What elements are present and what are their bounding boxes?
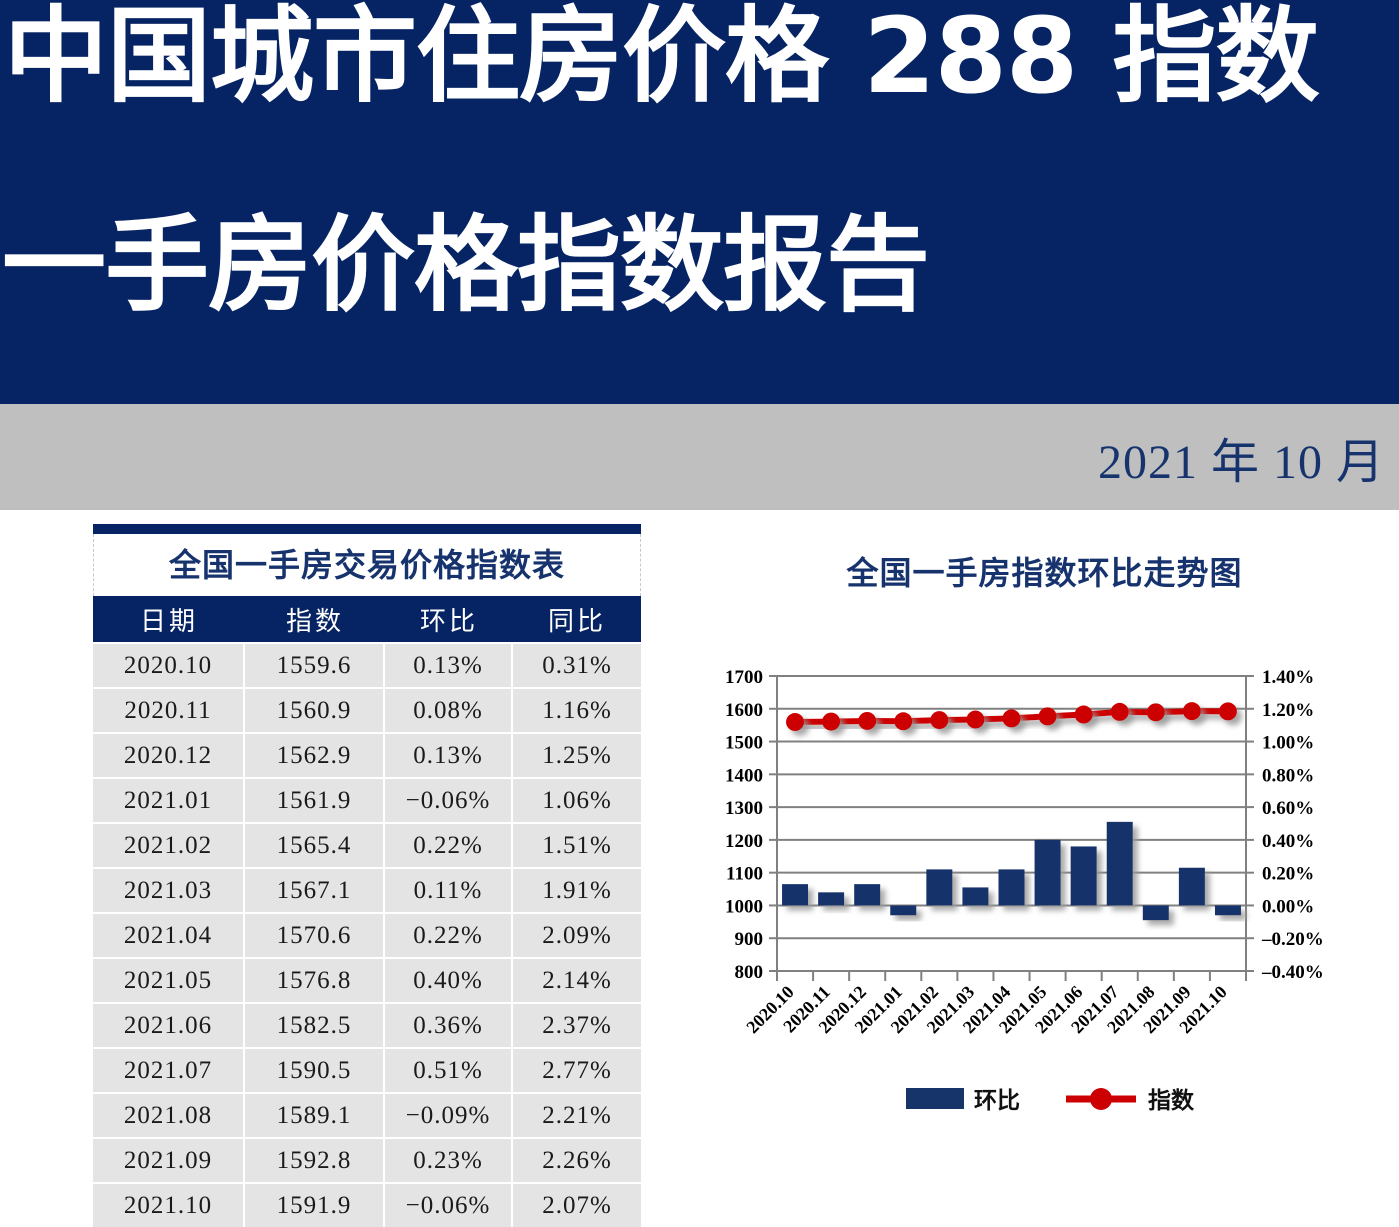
column-header-index: 指数 — [245, 596, 385, 642]
line-point-index — [1111, 703, 1129, 721]
cell-mom: 0.13% — [385, 642, 513, 687]
cell-mom: 0.13% — [385, 732, 513, 777]
cell-index: 1591.9 — [245, 1182, 385, 1227]
line-point-index — [966, 711, 984, 729]
table-body: 2020.101559.60.13%0.31%2020.111560.90.08… — [93, 642, 641, 1227]
line-point-index — [858, 712, 876, 730]
left-axis-label: 1700 — [725, 667, 763, 688]
cell-yoy: 2.14% — [513, 957, 641, 1002]
cell-date: 2021.02 — [93, 822, 245, 867]
line-point-index — [1219, 702, 1237, 720]
right-axis-label: –0.40% — [1261, 962, 1324, 983]
right-axis-label: 1.00% — [1262, 733, 1314, 754]
table-row: 2021.021565.40.22%1.51% — [93, 822, 641, 867]
right-axis-label: 0.00% — [1262, 896, 1314, 917]
cell-yoy: 0.31% — [513, 642, 641, 687]
legend-label-mom: 环比 — [974, 1088, 1020, 1114]
line-point-index — [1003, 709, 1021, 727]
date-bar: 2021 年 10 月 — [0, 404, 1399, 510]
bar-mom — [962, 887, 988, 905]
left-axis-label: 1500 — [725, 733, 763, 754]
table-row: 2020.111560.90.08%1.16% — [93, 687, 641, 732]
cell-yoy: 1.25% — [513, 732, 641, 777]
cell-index: 1560.9 — [245, 687, 385, 732]
cell-date: 2021.06 — [93, 1002, 245, 1047]
line-point-index — [1075, 706, 1093, 724]
line-point-index — [822, 713, 840, 731]
cell-index: 1570.6 — [245, 912, 385, 957]
line-point-index — [1039, 707, 1057, 725]
cell-index: 1567.1 — [245, 867, 385, 912]
cell-date: 2021.05 — [93, 957, 245, 1002]
cell-index: 1592.8 — [245, 1137, 385, 1182]
table-row: 2021.071590.50.51%2.77% — [93, 1047, 641, 1092]
cell-index: 1590.5 — [245, 1047, 385, 1092]
cell-mom: −0.06% — [385, 777, 513, 822]
cell-yoy: 1.91% — [513, 867, 641, 912]
cell-yoy: 2.77% — [513, 1047, 641, 1092]
bar-mom — [818, 892, 844, 905]
cell-date: 2021.10 — [93, 1182, 245, 1227]
cell-mom: 0.51% — [385, 1047, 513, 1092]
cell-yoy: 2.37% — [513, 1002, 641, 1047]
bar-mom — [1071, 846, 1097, 905]
cell-yoy: 2.09% — [513, 912, 641, 957]
cell-mom: −0.09% — [385, 1092, 513, 1137]
left-axis-label: 1000 — [725, 896, 763, 917]
table-row: 2021.011561.9−0.06%1.06% — [93, 777, 641, 822]
bar-mom — [1215, 905, 1241, 915]
cell-date: 2021.09 — [93, 1137, 245, 1182]
bar-mom — [1179, 868, 1205, 906]
title-banner: 中国城市住房价格 288 指数 一手房价格指数报告 — [0, 0, 1399, 404]
bar-mom — [1035, 840, 1061, 906]
line-point-index — [930, 711, 948, 729]
left-axis-label: 1200 — [725, 831, 763, 852]
table-row: 2021.041570.60.22%2.09% — [93, 912, 641, 957]
right-axis-label: –0.20% — [1261, 929, 1324, 950]
cell-yoy: 2.26% — [513, 1137, 641, 1182]
cell-mom: 0.23% — [385, 1137, 513, 1182]
trend-chart-panel: 全国一手房指数环比走势图 800–0.40%900–0.20%10000.00%… — [690, 524, 1399, 1145]
column-header-mom: 环比 — [385, 596, 513, 642]
cell-mom: 0.08% — [385, 687, 513, 732]
cell-date: 2021.07 — [93, 1047, 245, 1092]
price-index-table: 日期 指数 环比 同比 2020.101559.60.13%0.31%2020.… — [93, 596, 641, 1227]
table-row: 2021.051576.80.40%2.14% — [93, 957, 641, 1002]
cell-date: 2020.12 — [93, 732, 245, 777]
legend-marker-index — [1090, 1088, 1112, 1110]
bar-mom — [890, 905, 916, 915]
cell-mom: −0.06% — [385, 1182, 513, 1227]
line-point-index — [786, 713, 804, 731]
right-axis-label: 0.20% — [1262, 864, 1314, 885]
right-axis-label: 0.40% — [1262, 831, 1314, 852]
cell-date: 2021.04 — [93, 912, 245, 957]
cell-index: 1562.9 — [245, 732, 385, 777]
table-row: 2020.101559.60.13%0.31% — [93, 642, 641, 687]
report-title-line1: 中国城市住房价格 288 指数 — [0, 0, 1399, 116]
left-axis-label: 1600 — [725, 700, 763, 721]
price-index-table-panel: 全国一手房交易价格指数表 日期 指数 环比 同比 2020.101559.60.… — [93, 524, 641, 1227]
table-title: 全国一手房交易价格指数表 — [93, 534, 641, 596]
bar-mom — [1107, 822, 1133, 906]
table-top-accent-bar — [93, 524, 641, 534]
column-header-date: 日期 — [93, 596, 245, 642]
cell-date: 2021.08 — [93, 1092, 245, 1137]
cell-mom: 0.22% — [385, 912, 513, 957]
cell-date: 2020.11 — [93, 687, 245, 732]
cell-index: 1582.5 — [245, 1002, 385, 1047]
cell-index: 1576.8 — [245, 957, 385, 1002]
cell-yoy: 2.21% — [513, 1092, 641, 1137]
cell-date: 2020.10 — [93, 642, 245, 687]
left-axis-label: 1400 — [725, 765, 763, 786]
left-axis-label: 900 — [735, 929, 764, 950]
legend-label-index: 指数 — [1148, 1088, 1195, 1114]
table-header-row: 日期 指数 环比 同比 — [93, 596, 641, 642]
report-date: 2021 年 10 月 — [1098, 422, 1385, 492]
table-row: 2021.101591.9−0.06%2.07% — [93, 1182, 641, 1227]
left-axis-label: 1100 — [726, 864, 763, 885]
line-point-index — [1147, 703, 1165, 721]
table-row: 2021.091592.80.23%2.26% — [93, 1137, 641, 1182]
bar-mom — [1143, 905, 1169, 920]
right-axis-label: 0.80% — [1262, 765, 1314, 786]
bar-mom — [782, 884, 808, 905]
chart-title: 全国一手房指数环比走势图 — [690, 548, 1399, 594]
bar-mom — [999, 869, 1025, 905]
cell-date: 2021.03 — [93, 867, 245, 912]
cell-index: 1589.1 — [245, 1092, 385, 1137]
mom-trend-chart: 800–0.40%900–0.20%10000.00%11000.20%1200… — [690, 644, 1399, 1144]
table-row: 2021.081589.1−0.09%2.21% — [93, 1092, 641, 1137]
table-row: 2020.121562.90.13%1.25% — [93, 732, 641, 777]
bar-mom — [854, 884, 880, 905]
cell-yoy: 2.07% — [513, 1182, 641, 1227]
bar-mom — [926, 869, 952, 905]
line-point-index — [1183, 702, 1201, 720]
cell-mom: 0.40% — [385, 957, 513, 1002]
right-axis-label: 1.40% — [1262, 667, 1314, 688]
right-axis-label: 1.20% — [1262, 700, 1314, 721]
cell-index: 1561.9 — [245, 777, 385, 822]
cell-mom: 0.11% — [385, 867, 513, 912]
legend-swatch-mom — [906, 1088, 964, 1109]
cell-index: 1559.6 — [245, 642, 385, 687]
table-row: 2021.061582.50.36%2.37% — [93, 1002, 641, 1047]
report-title-line2: 一手房价格指数报告 — [0, 205, 1399, 325]
cell-mom: 0.22% — [385, 822, 513, 867]
cell-yoy: 1.51% — [513, 822, 641, 867]
cell-yoy: 1.16% — [513, 687, 641, 732]
table-row: 2021.031567.10.11%1.91% — [93, 867, 641, 912]
cell-mom: 0.36% — [385, 1002, 513, 1047]
left-axis-label: 800 — [735, 962, 764, 983]
cell-index: 1565.4 — [245, 822, 385, 867]
left-axis-label: 1300 — [725, 798, 763, 819]
cell-yoy: 1.06% — [513, 777, 641, 822]
right-axis-label: 0.60% — [1262, 798, 1314, 819]
line-point-index — [894, 712, 912, 730]
column-header-yoy: 同比 — [513, 596, 641, 642]
cell-date: 2021.01 — [93, 777, 245, 822]
